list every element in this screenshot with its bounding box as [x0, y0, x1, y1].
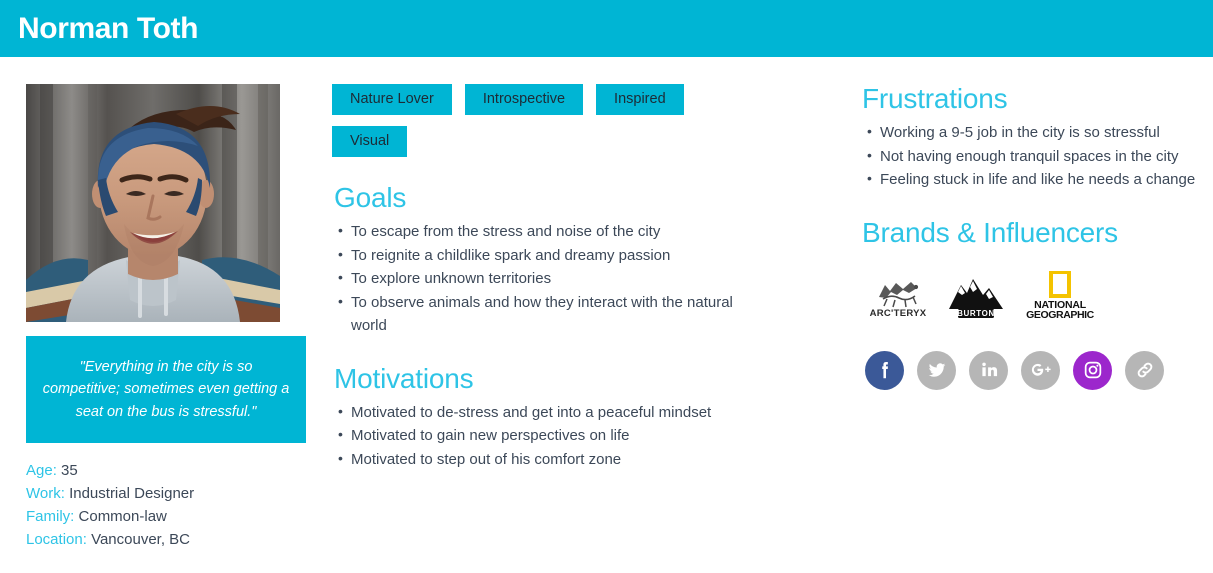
- facebook-glyph: [874, 359, 896, 381]
- google-plus-icon[interactable]: [1021, 351, 1060, 390]
- link-glyph: [1134, 359, 1156, 381]
- trait-tag-introspective[interactable]: Introspective: [465, 84, 583, 115]
- bio-value-work: Industrial Designer: [69, 485, 194, 502]
- google-plus-glyph: [1029, 358, 1053, 382]
- left-column: "Everything in the city is so competitiv…: [0, 84, 325, 552]
- goals-heading: Goals: [334, 183, 840, 214]
- list-item: To escape from the stress and noise of t…: [351, 221, 771, 244]
- right-column: Frustrations Working a 9-5 job in the ci…: [840, 84, 1213, 552]
- instagram-icon[interactable]: [1073, 351, 1112, 390]
- brand-logo-list: ARC'TERYX BURTON NATIONAL GEOGRAPHIC: [865, 271, 1213, 319]
- bio-row-age: Age: 35: [26, 460, 325, 483]
- twitter-icon[interactable]: [917, 351, 956, 390]
- bio-list: Age: 35 Work: Industrial Designer Family…: [26, 460, 325, 551]
- bio-label-age: Age:: [26, 462, 57, 479]
- motivations-list: Motivated to de-stress and get into a pe…: [332, 402, 840, 472]
- instagram-glyph: [1082, 359, 1104, 381]
- goals-section: Goals To escape from the stress and nois…: [332, 183, 840, 338]
- national-geographic-logo-icon: NATIONAL GEOGRAPHIC: [1021, 271, 1099, 319]
- burton-logo-icon: BURTON: [945, 273, 1007, 319]
- frustrations-heading: Frustrations: [862, 84, 1213, 115]
- bio-value-location: Vancouver, BC: [91, 531, 190, 548]
- list-item: To reignite a childlike spark and dreamy…: [351, 245, 771, 268]
- motivations-section: Motivations Motivated to de-stress and g…: [332, 364, 840, 472]
- bio-value-age: 35: [61, 462, 78, 479]
- twitter-glyph: [926, 359, 948, 381]
- linkedin-glyph: [978, 359, 1000, 381]
- bio-label-location: Location:: [26, 531, 87, 548]
- bio-row-family: Family: Common-law: [26, 506, 325, 529]
- svg-text:GEOGRAPHIC: GEOGRAPHIC: [1026, 309, 1095, 319]
- brands-heading: Brands & Influencers: [862, 218, 1213, 249]
- motivations-heading: Motivations: [334, 364, 840, 395]
- trait-tag-list: Nature Lover Introspective Inspired Visu…: [332, 84, 762, 157]
- trait-tag-nature-lover[interactable]: Nature Lover: [332, 84, 452, 115]
- list-item: Working a 9-5 job in the city is so stre…: [880, 122, 1213, 145]
- trait-tag-visual[interactable]: Visual: [332, 126, 407, 157]
- bio-row-work: Work: Industrial Designer: [26, 483, 325, 506]
- bio-label-family: Family:: [26, 508, 74, 525]
- persona-quote: "Everything in the city is so competitiv…: [26, 336, 306, 443]
- page-header: Norman Toth: [0, 0, 1213, 57]
- middle-column: Nature Lover Introspective Inspired Visu…: [325, 84, 840, 552]
- list-item: Not having enough tranquil spaces in the…: [880, 146, 1213, 169]
- social-links-list: [865, 351, 1213, 390]
- list-item: To observe animals and how they interact…: [351, 292, 771, 338]
- trait-tag-inspired[interactable]: Inspired: [596, 84, 684, 115]
- svg-text:ARC'TERYX: ARC'TERYX: [870, 308, 927, 319]
- list-item: Motivated to gain new perspectives on li…: [351, 425, 840, 448]
- facebook-icon[interactable]: [865, 351, 904, 390]
- bio-label-work: Work:: [26, 485, 65, 502]
- portrait-image: [26, 84, 280, 322]
- persona-photo: [26, 84, 280, 322]
- goals-list: To escape from the stress and noise of t…: [332, 221, 840, 338]
- frustrations-section: Frustrations Working a 9-5 job in the ci…: [861, 84, 1213, 192]
- persona-name: Norman Toth: [18, 14, 198, 44]
- link-icon[interactable]: [1125, 351, 1164, 390]
- linkedin-icon[interactable]: [969, 351, 1008, 390]
- brands-section: Brands & Influencers ARC'TERYX: [861, 218, 1213, 319]
- list-item: To explore unknown territories: [351, 268, 771, 291]
- bio-value-family: Common-law: [79, 508, 167, 525]
- list-item: Feeling stuck in life and like he needs …: [880, 169, 1213, 192]
- arcteryx-logo-icon: ARC'TERYX: [865, 275, 931, 319]
- list-item: Motivated to de-stress and get into a pe…: [351, 402, 840, 425]
- persona-body: "Everything in the city is so competitiv…: [0, 57, 1213, 552]
- svg-text:BURTON: BURTON: [957, 309, 995, 318]
- list-item: Motivated to step out of his comfort zon…: [351, 449, 840, 472]
- bio-row-location: Location: Vancouver, BC: [26, 529, 325, 552]
- frustrations-list: Working a 9-5 job in the city is so stre…: [861, 122, 1213, 192]
